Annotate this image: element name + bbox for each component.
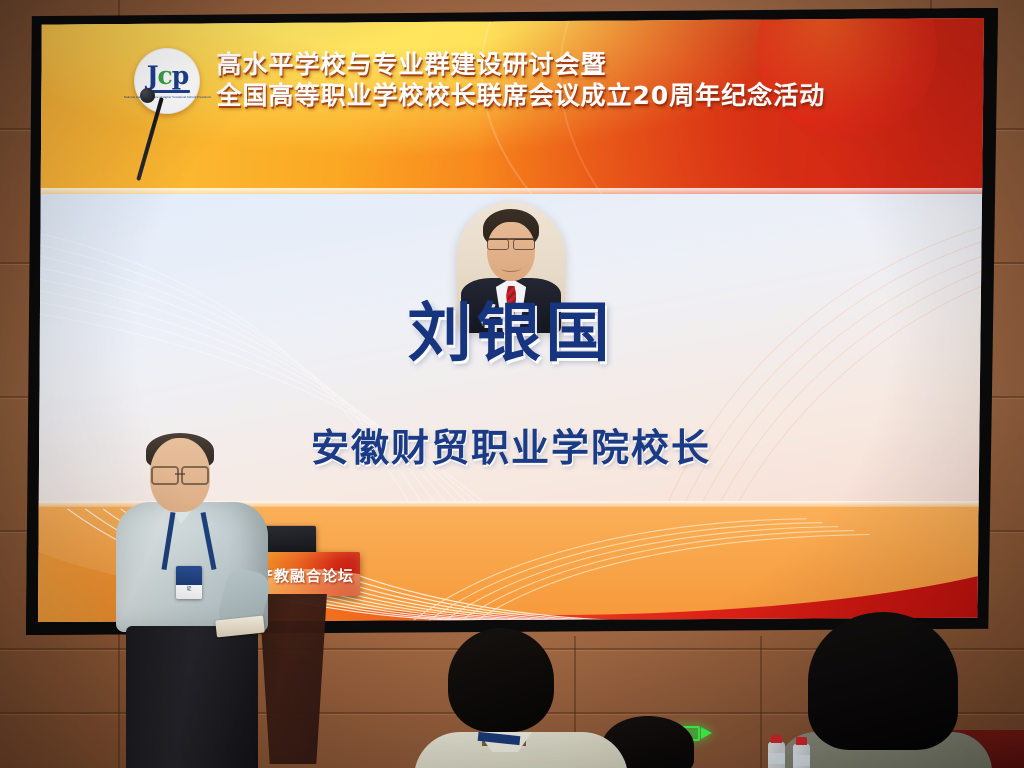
wall-seam <box>760 636 762 768</box>
presenter-figure: 证 <box>110 438 280 768</box>
presenter-glasses-icon <box>151 466 209 481</box>
banner-content-row: Jcp National Joint Conference of Higher … <box>134 48 825 114</box>
banner-bottom-edge <box>38 188 984 194</box>
water-bottle <box>793 744 810 768</box>
banner-title-line-1: 高水平学校与专业群建设研讨会暨 <box>216 51 825 79</box>
banner-title-line-2: 全国高等职业学校校长联席会议成立20周年纪念活动 <box>216 82 825 110</box>
presenter-trousers <box>126 626 258 768</box>
slide-speaker-name: 刘银国 <box>38 302 984 366</box>
portrait-face <box>487 222 535 281</box>
water-bottle <box>768 742 785 768</box>
jcp-logo: Jcp National Joint Conference of Higher … <box>134 48 200 114</box>
conference-photo-scene: Jcp National Joint Conference of Higher … <box>0 0 1024 768</box>
jcp-logo-mark: Jcp <box>147 63 189 88</box>
audience-hair <box>808 612 958 750</box>
presenter-badge: 证 <box>176 566 202 599</box>
slide-banner: Jcp National Joint Conference of Higher … <box>38 18 984 194</box>
audience-head <box>448 628 554 732</box>
banner-title-block: 高水平学校与专业群建设研讨会暨 全国高等职业学校校长联席会议成立20周年纪念活动 <box>216 51 825 110</box>
audience-member-front-right <box>790 612 990 768</box>
microphone-capsule <box>140 88 155 103</box>
audience-member-front-left <box>420 628 620 768</box>
portrait-glasses-icon <box>487 238 535 250</box>
jcp-logo-caption: National Joint Conference of Higher Voca… <box>124 95 211 99</box>
